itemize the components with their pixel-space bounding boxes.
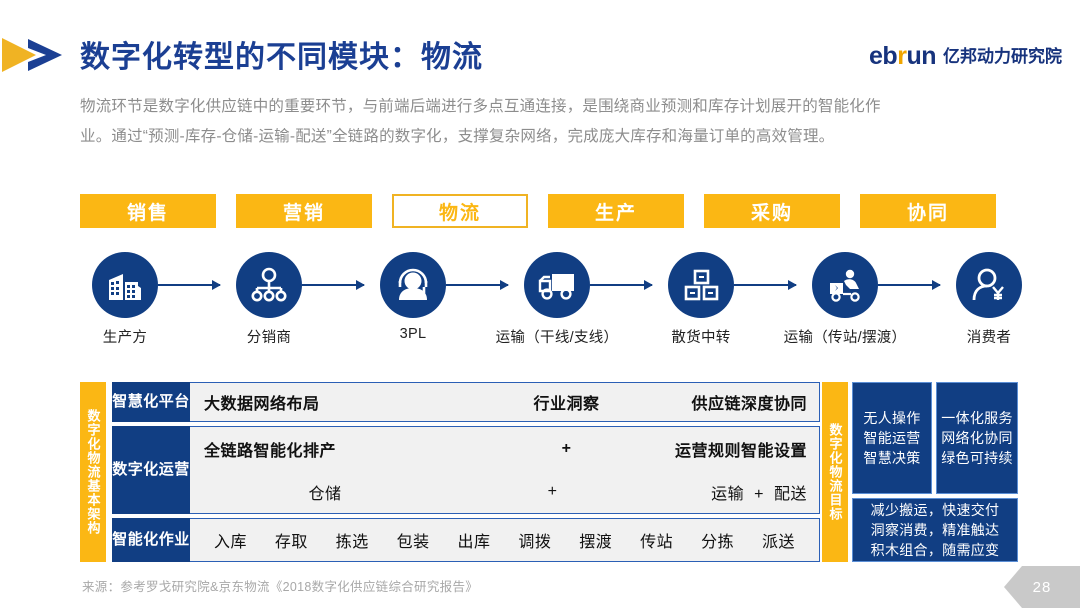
- chain-node-label: 散货中转: [671, 326, 730, 347]
- goal-line: 绿色可持续: [941, 448, 1013, 468]
- matrix-row-body: 入库 存取 拣选 包装 出库 调拨 摆渡 传站 分拣 派送: [190, 518, 820, 562]
- matrix-row-head: 数字化运营: [112, 426, 190, 514]
- operation-item: 入库: [214, 528, 247, 552]
- chain-node-producer[interactable]: 生产方: [92, 252, 158, 318]
- operation-item: 包装: [397, 528, 430, 552]
- goal-line: 一体化服务: [941, 408, 1013, 428]
- flow-arrow-2: [302, 284, 364, 286]
- chain-node-distributor[interactable]: 分销商: [236, 252, 302, 318]
- tab-collaboration[interactable]: 协同: [860, 194, 996, 228]
- tab-production[interactable]: 生产: [548, 194, 684, 228]
- brand-logo: ebrun 亿邦动力研究院: [869, 40, 1062, 72]
- architecture-matrix: 数字化物流基本架构 智慧化平台 大数据网络布局 行业洞察 供应链深度协同 数字化…: [80, 382, 820, 562]
- goal-line: 智能运营: [863, 428, 920, 448]
- brand-name-cn: 亿邦动力研究院: [943, 48, 1062, 65]
- chain-node-label: 运输（传站/摆渡）: [784, 326, 907, 347]
- lead-line-1: 物流环节是数字化供应链中的重要环节，与前端后端进行多点互通连接，是围绕商业预测和…: [80, 98, 881, 115]
- chain-node-label: 生产方: [103, 326, 147, 347]
- chain-node-label: 消费者: [967, 326, 1011, 347]
- operation-item: 存取: [275, 528, 308, 552]
- matrix-cell: 全链路智能化排产: [190, 437, 474, 461]
- logistics-flow-chain: 生产方 分销商: [80, 252, 1015, 362]
- operation-item: 调拨: [518, 528, 551, 552]
- matrix-cell: +: [474, 440, 659, 458]
- matrix-cell: 运营规则智能设置: [659, 437, 819, 461]
- lead-paragraph: 物流环节是数字化供应链中的重要环节，与前端后端进行多点互通连接，是围绕商业预测和…: [80, 92, 1015, 152]
- page-title: 数字化转型的不同模块：物流: [80, 32, 483, 76]
- matrix-side-label: 数字化物流基本架构: [80, 382, 106, 562]
- double-arrow-logo-icon: [2, 28, 74, 82]
- matrix-rows: 智慧化平台 大数据网络布局 行业洞察 供应链深度协同 数字化运营 全链路智能化排…: [112, 382, 820, 562]
- goal-box-automation: 无人操作 智能运营 智慧决策: [852, 382, 932, 494]
- chain-node-consumer[interactable]: 消费者: [956, 252, 1022, 318]
- source-note: 来源：参考罗戈研究院&京东物流《2018数字化供应链综合研究报告》: [82, 576, 478, 595]
- lead-line-2: 业。通过“预测-库存-仓储-运输-配送”全链路的数字化，支撑复杂网络，完成庞大库…: [80, 122, 1015, 152]
- tab-marketing[interactable]: 营销: [236, 194, 372, 228]
- tab-procurement[interactable]: 采购: [704, 194, 840, 228]
- matrix-row-execution: 智能化作业 入库 存取 拣选 包装 出库 调拨 摆渡 传站 分拣 派送: [112, 518, 820, 562]
- goal-line: 网络化协同: [941, 428, 1013, 448]
- consumer-yen-icon: [956, 252, 1022, 318]
- matrix-cell: 行业洞察: [474, 390, 659, 414]
- matrix-cell: 供应链深度协同: [659, 390, 819, 414]
- goal-line: 积木组合，随需应变: [871, 540, 1000, 560]
- flow-arrow-5: [734, 284, 796, 286]
- chain-node-transport-trunk[interactable]: 运输（干线/支线）: [524, 252, 590, 318]
- operation-item: 分拣: [701, 528, 734, 552]
- tab-logistics[interactable]: 物流: [392, 194, 528, 228]
- flow-arrow-3: [446, 284, 508, 286]
- matrix-row-body: 大数据网络布局 行业洞察 供应链深度协同: [190, 382, 820, 422]
- operation-item: 派送: [762, 528, 795, 552]
- goal-line: 智慧决策: [863, 448, 920, 468]
- operation-item: 出库: [458, 528, 491, 552]
- matrix-row-head: 智能化作业: [112, 518, 190, 562]
- logistics-goals-panel: 数字化物流目标 无人操作 智能运营 智慧决策 一体化服务 网络化协同 绿色可持续…: [822, 382, 1018, 562]
- chain-node-3pl[interactable]: 3PL: [380, 252, 446, 318]
- matrix-cell: +: [460, 483, 645, 501]
- factory-buildings-icon: [92, 252, 158, 318]
- truck-icon: [524, 252, 590, 318]
- tab-sales[interactable]: 销售: [80, 194, 216, 228]
- scooter-courier-icon: [812, 252, 878, 318]
- goal-line: 无人操作: [863, 408, 920, 428]
- goal-box-outcomes: 减少搬运，快速交付 洞察消费，精准触达 积木组合，随需应变: [852, 498, 1018, 562]
- goal-box-integration: 一体化服务 网络化协同 绿色可持续: [936, 382, 1018, 494]
- matrix-row-operations: 数字化运营 全链路智能化排产 + 运营规则智能设置 仓储 + 运输+配送: [112, 426, 820, 514]
- brand-wordmark: ebrun: [869, 44, 936, 69]
- distribution-network-icon: [236, 252, 302, 318]
- matrix-cell: 大数据网络布局: [190, 390, 474, 414]
- goal-line: 减少搬运，快速交付: [871, 500, 1000, 520]
- flow-arrow-1: [158, 284, 220, 286]
- operation-item: 摆渡: [579, 528, 612, 552]
- matrix-row-platform: 智慧化平台 大数据网络布局 行业洞察 供应链深度协同: [112, 382, 820, 422]
- headset-agent-icon: [380, 252, 446, 318]
- slide-root: 数字化转型的不同模块：物流 ebrun 亿邦动力研究院 物流环节是数字化供应链中…: [0, 0, 1080, 608]
- chain-node-bulk-transfer[interactable]: 散货中转: [668, 252, 734, 318]
- stacked-boxes-icon: [668, 252, 734, 318]
- module-tab-strip: 销售 营销 物流 生产 采购 协同: [80, 194, 996, 228]
- matrix-cell: 运输+配送: [645, 480, 819, 504]
- matrix-row-head: 智慧化平台: [112, 382, 190, 422]
- operation-item: 拣选: [336, 528, 369, 552]
- chain-node-label: 3PL: [400, 326, 427, 342]
- goals-side-label: 数字化物流目标: [822, 382, 848, 562]
- matrix-cell: 仓储: [190, 480, 460, 504]
- operation-item: 传站: [640, 528, 673, 552]
- flow-arrow-6: [878, 284, 940, 286]
- operation-list: 入库 存取 拣选 包装 出库 调拨 摆渡 传站 分拣 派送: [190, 528, 819, 552]
- chain-node-label: 分销商: [247, 326, 291, 347]
- page-number-badge: 28: [1004, 566, 1080, 608]
- chain-node-transport-last-mile[interactable]: 运输（传站/摆渡）: [812, 252, 878, 318]
- matrix-row-body: 全链路智能化排产 + 运营规则智能设置 仓储 + 运输+配送: [190, 426, 820, 514]
- goal-line: 洞察消费，精准触达: [871, 520, 1000, 540]
- goals-grid: 无人操作 智能运营 智慧决策 一体化服务 网络化协同 绿色可持续 减少搬运，快速…: [852, 382, 1018, 562]
- chain-node-label: 运输（干线/支线）: [496, 326, 619, 347]
- flow-arrow-4: [590, 284, 652, 286]
